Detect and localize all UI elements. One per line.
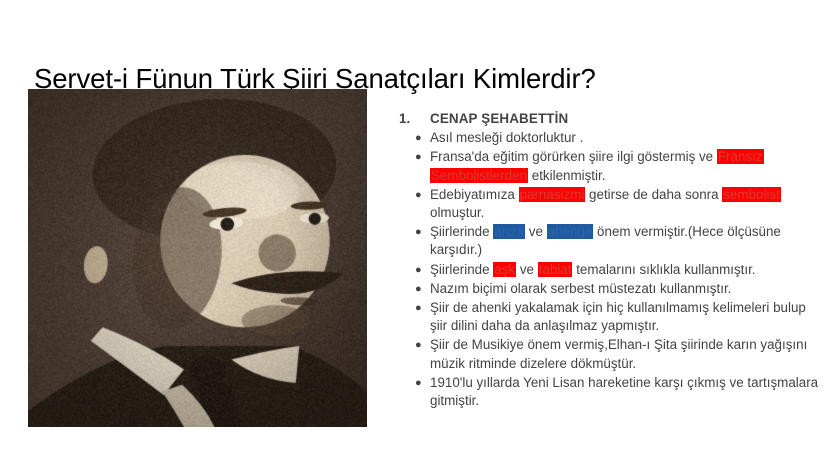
text-segment: olmuştur.: [430, 205, 484, 220]
text-segment: CENAP ŞEHABETTİN: [430, 111, 568, 126]
list-item-text: Fransa'da eğitim görürken şiire ilgi gös…: [430, 148, 820, 184]
list-item-text: 1910'lu yıllarda Yeni Lisan hareketine k…: [430, 374, 820, 410]
list-item: ●Nazım biçimi olarak serbest müstezatı k…: [396, 280, 820, 298]
portrait-photo: [28, 89, 367, 427]
list-item-text: Şiir de ahenki yakalamak için hiç kullan…: [430, 299, 820, 335]
highlighted-term-red: sembolist: [722, 187, 781, 202]
text-segment: Şiir de ahenki yakalamak için hiç kullan…: [430, 300, 806, 333]
list-item: ●1910'lu yıllarda Yeni Lisan hareketine …: [396, 374, 820, 410]
bullet-marker: ●: [415, 374, 441, 393]
text-segment: ve: [516, 262, 538, 277]
highlighted-term-red: parnasizmi: [519, 187, 586, 202]
text-segment: Nazım biçimi olarak serbest müstezatı ku…: [430, 281, 731, 296]
highlighted-term-blue: ahenge: [547, 224, 594, 239]
cenap-sehabettin-portrait-image: [28, 89, 367, 427]
text-segment: Edebiyatımıza: [430, 187, 519, 202]
bullet-marker: ●: [415, 336, 441, 355]
list-item: ●Edebiyatımıza parnasizmi getirse de dah…: [396, 186, 820, 222]
bullet-marker: ●: [415, 129, 441, 148]
list-item-text: Şiirlerinde arıza ve ahenge önem vermişt…: [430, 223, 820, 259]
list-item-text: Asıl mesleği doktorluktur .: [430, 129, 820, 147]
bullet-list: 1.CENAP ŞEHABETTİN●Asıl mesleği doktorlu…: [396, 110, 820, 410]
text-segment: getirse de daha sonra: [585, 187, 722, 202]
highlighted-term-red: tabiat: [538, 262, 573, 277]
list-item: ●Asıl mesleği doktorluktur .: [396, 129, 820, 147]
bullet-marker: ●: [415, 280, 441, 299]
numbered-list-item: 1.CENAP ŞEHABETTİN: [396, 110, 820, 128]
slide-canvas: Servet-i Fünun Türk Şiiri Sanatçıları Ki…: [0, 0, 828, 466]
bullet-marker: ●: [415, 261, 441, 280]
text-segment: etkilenmiştir.: [528, 168, 605, 183]
bullet-content-column: 1.CENAP ŞEHABETTİN●Asıl mesleği doktorlu…: [396, 110, 820, 411]
list-item: ●Şiirlerinde arıza ve ahenge önem vermiş…: [396, 223, 820, 259]
highlighted-term-blue: arıza: [493, 224, 525, 239]
list-item-text: CENAP ŞEHABETTİN: [430, 110, 820, 128]
list-item: ●Şiirlerinde aşk ve tabiat temalarını sı…: [396, 261, 820, 279]
bullet-marker: ●: [415, 299, 441, 318]
bullet-marker: ●: [415, 223, 441, 242]
list-item-text: Şiir de Musikiye önem vermiş,Elhan-ı Şit…: [430, 336, 820, 372]
text-segment: 1910'lu yıllarda Yeni Lisan hareketine k…: [430, 375, 818, 408]
text-segment: temalarını sıklıkla kullanmıştır.: [572, 262, 755, 277]
list-item-text: Edebiyatımıza parnasizmi getirse de daha…: [430, 186, 820, 222]
list-item: ●Şiir de Musikiye önem vermiş,Elhan-ı Şi…: [396, 336, 820, 372]
list-item-text: Nazım biçimi olarak serbest müstezatı ku…: [430, 280, 820, 298]
list-number-marker: 1.: [399, 110, 425, 128]
text-segment: Şiir de Musikiye önem vermiş,Elhan-ı Şit…: [430, 337, 807, 370]
highlighted-term-red: aşk: [493, 262, 516, 277]
bullet-marker: ●: [415, 148, 441, 167]
list-item-text: Şiirlerinde aşk ve tabiat temalarını sık…: [430, 261, 820, 279]
list-item: ●Fransa'da eğitim görürken şiire ilgi gö…: [396, 148, 820, 184]
text-segment: Asıl mesleği doktorluktur .: [430, 130, 583, 145]
list-item: ●Şiir de ahenki yakalamak için hiç kulla…: [396, 299, 820, 335]
bullet-marker: ●: [415, 186, 441, 205]
text-segment: ve: [525, 224, 547, 239]
text-segment: Fransa'da eğitim görürken şiire ilgi gös…: [430, 149, 717, 164]
